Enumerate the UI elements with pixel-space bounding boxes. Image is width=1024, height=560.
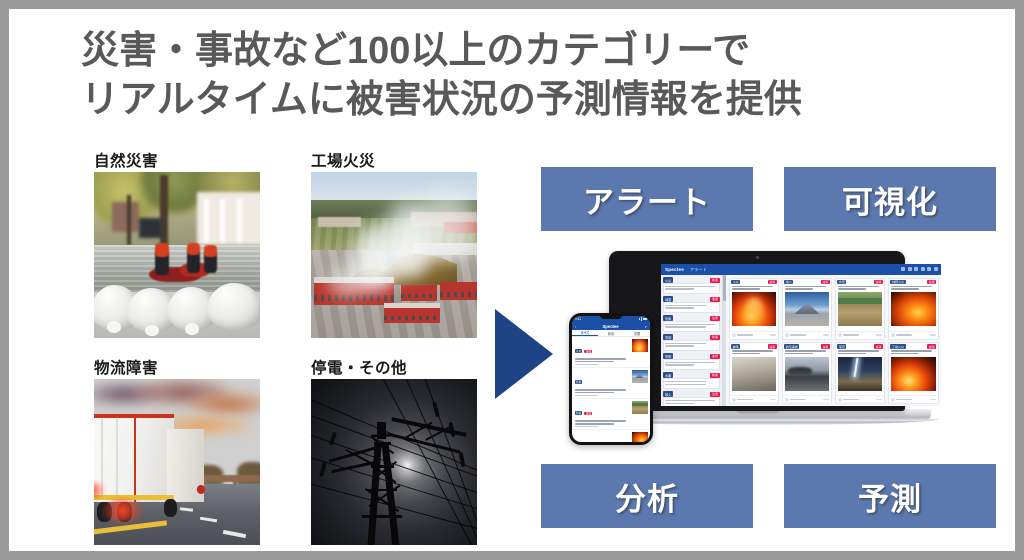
thumbnail-scene <box>632 339 648 352</box>
sidebar-item-text <box>663 283 720 293</box>
phone-screen: 9:41 ‹ Spectee ⌕ すべて新着重要 火災速報気象停電速報事故地震水… <box>572 316 650 442</box>
phone-row-body: 火災速報 <box>575 339 630 365</box>
feature-box-visualization[interactable]: 可視化 <box>784 167 996 231</box>
text-line <box>665 307 694 309</box>
text-line <box>665 403 694 405</box>
sidebar-item-badge: 新着 <box>710 278 720 283</box>
sidebar-item-category: 気象 <box>663 315 673 321</box>
sidebar-item-badge: 新着 <box>710 373 720 378</box>
card-title <box>889 349 938 355</box>
feature-box-prediction-label: 予測 <box>858 474 922 519</box>
expand-icon[interactable] <box>927 267 931 271</box>
incident-card[interactable]: 火災速報 <box>729 278 780 340</box>
sidebar-feed-item[interactable]: 地震速報 <box>663 296 720 313</box>
app-logo: Spectee <box>665 267 684 272</box>
aerial-factory-fire-smoke-photo <box>311 172 477 338</box>
card-footer <box>730 395 779 403</box>
source-line <box>896 399 912 400</box>
thumbnail-scene <box>785 292 830 326</box>
thumbnail-scene <box>632 401 648 414</box>
app-body: 火災新着地震速報気象注意事故新着停電速報水害新着噴火注意その他新着 火災速報噴火… <box>661 275 941 406</box>
category-label-logistics-disruption: 物流障害 <box>94 356 158 378</box>
text-line <box>665 362 715 364</box>
phone-signal-icons <box>639 317 647 320</box>
sidebar-feed-item[interactable]: 噴火注意 <box>663 391 720 406</box>
phone-row-tag: 停電 <box>575 411 583 416</box>
card-title <box>783 349 832 355</box>
card-thumbnail <box>838 357 883 391</box>
text-line <box>665 288 694 290</box>
right-arrow-icon <box>495 309 553 399</box>
card-thumbnail <box>732 357 777 391</box>
sidebar-feed-item[interactable]: 停電速報 <box>663 353 720 370</box>
card-footer <box>783 395 832 403</box>
phone-notch <box>600 315 622 319</box>
source-line <box>896 334 912 335</box>
timestamp-line <box>930 399 936 400</box>
source-line <box>737 334 753 335</box>
text-line <box>575 420 627 422</box>
timestamp-line <box>876 399 882 400</box>
phone-row-tag: 火災 <box>575 349 583 354</box>
card-footer <box>889 395 938 403</box>
sidebar-item-badge: 注意 <box>710 392 720 397</box>
thumbnail-scene <box>838 292 883 326</box>
category-label-power-outage-other: 停電・その他 <box>311 356 407 378</box>
incident-card[interactable]: 林野火災速報 <box>888 278 939 340</box>
text-line <box>575 358 627 360</box>
source-line <box>843 334 859 335</box>
sidebar-feed-item[interactable]: 火災新着 <box>663 277 720 294</box>
text-line <box>575 392 615 394</box>
thumbnail-scene <box>785 357 830 391</box>
phone-tab[interactable]: 重要 <box>624 330 650 336</box>
text-line <box>575 361 615 363</box>
phone-tab[interactable]: すべて <box>572 330 598 336</box>
back-arrow-icon[interactable]: ‹ <box>575 324 576 329</box>
battery-icon <box>643 318 647 320</box>
signal-icon <box>639 318 640 320</box>
phone-row-thumbnail <box>632 432 648 442</box>
timestamp-line <box>876 334 882 335</box>
card-footer <box>783 331 832 339</box>
grid-icon[interactable] <box>914 267 918 271</box>
sidebar-item-category: 地震 <box>663 296 673 302</box>
app-active-tab[interactable]: アラート <box>690 267 707 273</box>
timestamp-line <box>770 334 776 335</box>
feature-box-analysis[interactable]: 分析 <box>541 464 753 528</box>
app-card-grid: 火災速報噴火速報水害速報林野火災速報崩落速報航空事故速報落雷速報工場火災速報 <box>726 275 941 406</box>
avatar <box>891 333 895 337</box>
flood-rescue-sandbags-photo <box>94 172 260 338</box>
card-thumbnail <box>785 292 830 326</box>
sidebar-item-badge: 速報 <box>710 297 720 302</box>
phone-feed-list[interactable]: 火災速報気象停電速報事故地震水害落雷噴火速報 <box>572 337 650 442</box>
sidebar-item-text <box>663 302 720 312</box>
phone-feed-row[interactable]: 気象 <box>572 368 650 399</box>
card-thumbnail <box>891 292 936 326</box>
thumbnail-scene <box>632 370 648 383</box>
card-footer <box>836 395 885 403</box>
avatar <box>785 398 789 402</box>
text-line <box>665 345 694 347</box>
feature-box-visualization-label: 可視化 <box>842 177 938 222</box>
laptop-lid: Spectee アラート 火災新着地震速報気象注意事故新着停電速報水害新着噴火注… <box>609 251 905 411</box>
phone-app-logo: Spectee <box>603 324 619 329</box>
page-title: 災害・事故など100以上のカテゴリーで リアルタイムに被害状況の予測情報を提供 <box>81 27 971 124</box>
laptop-screen: Spectee アラート 火災新着地震速報気象注意事故新着停電速報水害新着噴火注… <box>661 264 941 406</box>
timestamp-line <box>770 399 776 400</box>
card-title <box>730 284 779 290</box>
incident-card[interactable]: 噴火速報 <box>782 278 833 340</box>
category-label-natural-disaster: 自然災害 <box>94 149 158 171</box>
text-line <box>665 324 715 326</box>
phone-row-thumbnail <box>632 370 648 383</box>
text-line <box>575 389 627 391</box>
app-top-bar: Spectee アラート <box>661 264 941 275</box>
card-title <box>730 349 779 355</box>
source-line <box>790 399 806 400</box>
sidebar-item-category: 事故 <box>663 334 673 340</box>
card-title <box>889 284 938 290</box>
card-thumbnail <box>785 357 830 391</box>
bell-icon[interactable] <box>901 267 905 271</box>
text-line <box>665 326 706 328</box>
avatar <box>732 333 736 337</box>
sidebar-item-category: 火災 <box>663 277 673 283</box>
sidebar-item-text <box>663 397 720 406</box>
user-icon[interactable] <box>908 267 912 271</box>
avatar <box>838 398 842 402</box>
avatar <box>732 398 736 402</box>
sidebar-feed-item[interactable]: 事故新着 <box>663 334 720 351</box>
card-footer <box>889 331 938 339</box>
text-line <box>665 343 706 345</box>
app-sidebar-feed[interactable]: 火災新着地震速報気象注意事故新着停電速報水害新着噴火注意その他新着 <box>661 275 723 406</box>
incident-card[interactable]: 航空事故速報 <box>782 342 833 404</box>
thumbnail-scene <box>632 432 648 442</box>
sidebar-item-badge: 速報 <box>710 354 720 359</box>
sidebar-item-text <box>663 359 720 369</box>
phone-row-body: 事故 <box>575 432 630 442</box>
phone-tab-bar: すべて新着重要 <box>572 330 650 337</box>
card-thumbnail <box>838 292 883 326</box>
text-line <box>665 381 706 383</box>
sidebar-feed-item[interactable]: 気象注意 <box>663 315 720 332</box>
avatar <box>785 333 789 337</box>
text-line <box>665 400 715 402</box>
phone-feed-row[interactable]: 火災速報 <box>572 337 650 368</box>
card-footer <box>730 331 779 339</box>
phone-row-body: 気象 <box>575 370 630 396</box>
sidebar-item-category: 噴火 <box>663 391 673 397</box>
text-line <box>575 364 598 366</box>
power-transmission-tower-night-photo <box>311 379 477 545</box>
avatar <box>891 398 895 402</box>
text-line <box>575 395 598 397</box>
sidebar-item-badge: 新着 <box>710 335 720 340</box>
text-line <box>575 423 615 425</box>
category-label-factory-fire: 工場火災 <box>311 149 375 171</box>
app-toolbar-icons <box>901 267 938 271</box>
card-thumbnail <box>891 357 936 391</box>
timestamp-line <box>823 399 829 400</box>
feature-box-analysis-label: 分析 <box>615 474 679 519</box>
text-line <box>665 364 694 366</box>
feature-box-alert[interactable]: アラート <box>541 167 753 231</box>
phone-row-thumbnail <box>632 339 648 352</box>
sidebar-item-text <box>663 321 720 331</box>
thumbnail-scene <box>838 357 883 391</box>
phone-tab[interactable]: 新着 <box>598 330 624 336</box>
feature-box-prediction[interactable]: 予測 <box>784 464 996 528</box>
thumbnail-scene <box>732 292 777 326</box>
source-line <box>790 334 806 335</box>
timestamp-line <box>930 334 936 335</box>
phone-feed-row[interactable]: 停電速報 <box>572 399 650 430</box>
phone-row-highlight: 速報 <box>584 350 592 354</box>
incident-card[interactable]: 崩落速報 <box>729 342 780 404</box>
phone-clock: 9:41 <box>575 317 581 321</box>
thumbnail-scene <box>891 357 936 391</box>
incident-card[interactable]: 落雷速報 <box>835 342 886 404</box>
source-line <box>737 399 753 400</box>
text-line <box>665 286 715 288</box>
card-footer <box>836 331 885 339</box>
phone-row-tag: 気象 <box>575 380 583 385</box>
text-line <box>665 305 706 307</box>
fullscreen-icon[interactable] <box>934 267 938 271</box>
webcam-icon <box>756 256 759 259</box>
phone-row-body: 停電速報 <box>575 401 630 427</box>
wifi-icon <box>641 317 642 320</box>
sidebar-item-category: 水害 <box>663 372 673 378</box>
search-icon[interactable]: ⌕ <box>645 324 647 329</box>
semi-truck-highway-sunset-photo <box>94 379 260 545</box>
timestamp-line <box>823 334 829 335</box>
avatar <box>838 333 842 337</box>
card-title <box>783 284 832 290</box>
sidebar-item-category: 停電 <box>663 353 673 359</box>
sidebar-item-badge: 注意 <box>710 316 720 321</box>
phone-app-bar: ‹ Spectee ⌕ <box>572 322 650 330</box>
feature-box-alert-label: アラート <box>583 177 711 222</box>
slide-canvas: 災害・事故など100以上のカテゴリーで リアルタイムに被害状況の予測情報を提供 … <box>9 9 1015 551</box>
device-mockup: Spectee アラート 火災新着地震速報気象注意事故新着停電速報水害新着噴火注… <box>565 247 951 449</box>
card-title <box>836 284 885 290</box>
sidebar-item-text <box>663 340 720 350</box>
incident-card[interactable]: 工場火災速報 <box>888 342 939 404</box>
search-icon[interactable] <box>921 267 925 271</box>
text-line <box>575 426 598 428</box>
thumbnail-scene <box>732 357 777 391</box>
incident-card[interactable]: 水害速報 <box>835 278 886 340</box>
phone-row-highlight: 速報 <box>584 412 592 416</box>
card-title <box>836 349 885 355</box>
thumbnail-scene <box>891 292 936 326</box>
phone-row-thumbnail <box>632 401 648 414</box>
sidebar-item-text <box>663 378 720 388</box>
text-line <box>665 384 706 386</box>
phone-frame: 9:41 ‹ Spectee ⌕ すべて新着重要 火災速報気象停電速報事故地震水… <box>569 313 653 445</box>
sidebar-feed-item[interactable]: 水害新着 <box>663 372 720 389</box>
phone-feed-row[interactable]: 事故 <box>572 430 650 442</box>
source-line <box>843 399 859 400</box>
card-thumbnail <box>732 292 777 326</box>
